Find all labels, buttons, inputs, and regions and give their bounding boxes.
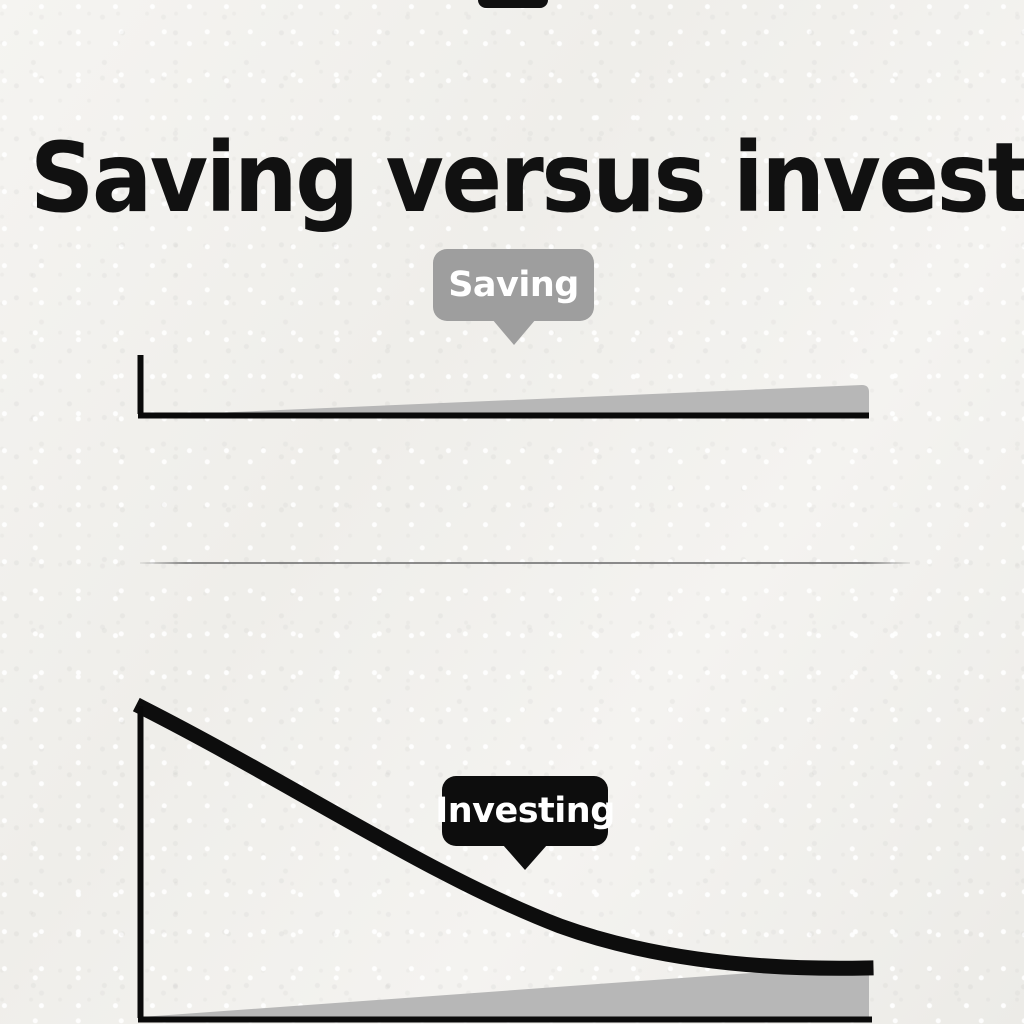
- saving-area-series: [141, 385, 869, 416]
- callout-investing-label: Investing: [435, 791, 615, 831]
- callout-pointer-icon: [503, 845, 547, 870]
- page-canvas: Saving versus investing Saving Investing: [0, 0, 1024, 1024]
- callout-pointer-icon: [492, 319, 536, 345]
- section-divider: [140, 562, 910, 564]
- page-title: Saving versus investing: [30, 126, 941, 230]
- callout-saving[interactable]: Saving: [433, 249, 594, 321]
- callout-saving-label: Saving: [448, 265, 579, 305]
- saving-chart: [0, 330, 1024, 440]
- callout-investing[interactable]: Investing: [442, 776, 608, 846]
- cropped-top-element: [478, 0, 548, 8]
